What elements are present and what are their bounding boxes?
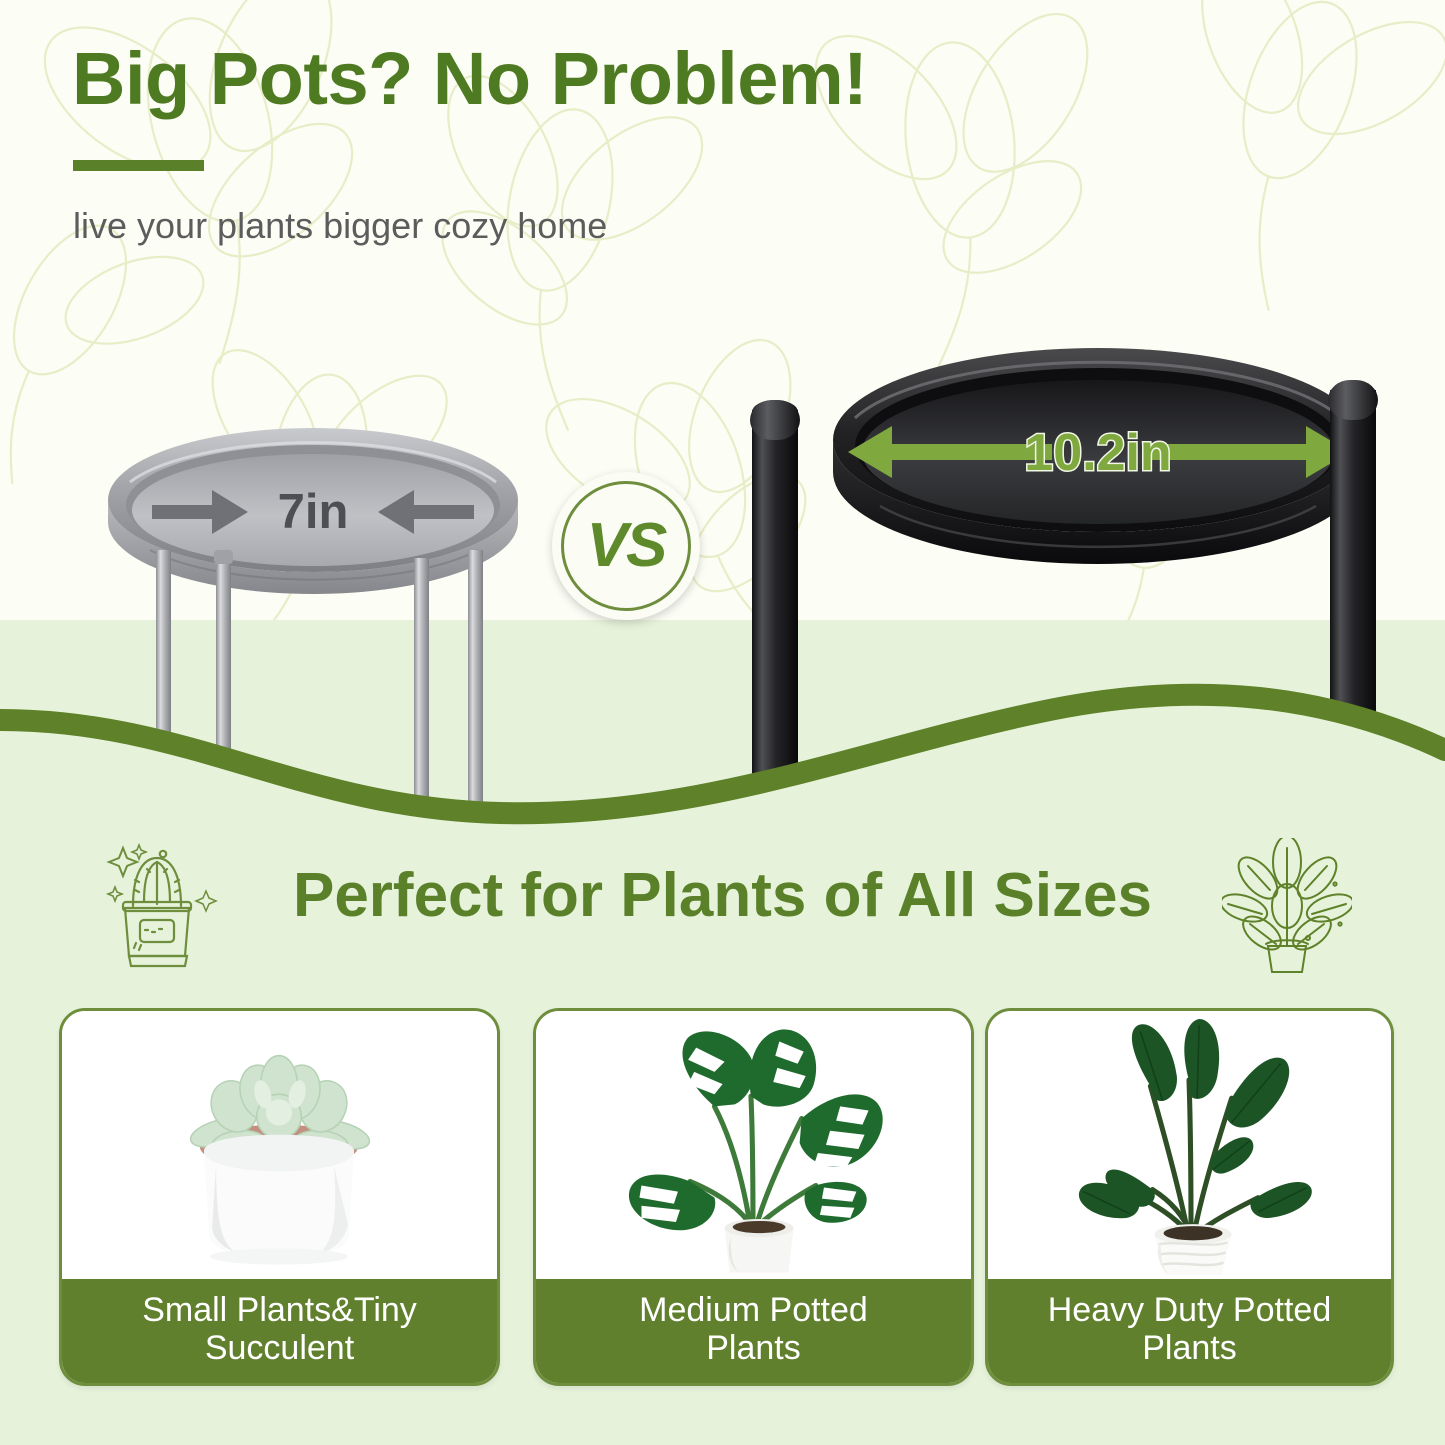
card-caption: Heavy Duty Potted Plants xyxy=(988,1279,1391,1383)
vs-badge: VS xyxy=(552,472,700,620)
bird-of-paradise-in-white-pot-image xyxy=(988,1011,1391,1279)
title-accent-bar xyxy=(73,160,204,171)
plant-size-card-list: Small Plants&Tiny Succulent xyxy=(0,1008,1445,1388)
card-caption: Medium Potted Plants xyxy=(536,1279,971,1383)
vs-badge-ring: VS xyxy=(561,481,691,611)
card-heavy-duty-plants[interactable]: Heavy Duty Potted Plants xyxy=(985,1008,1394,1386)
page-title: Big Pots? No Problem! xyxy=(72,36,867,121)
infographic-page: 7in 10.2in xyxy=(0,0,1445,1445)
succulent-in-white-pot-image xyxy=(62,1011,497,1279)
card-caption: Small Plants&Tiny Succulent xyxy=(62,1279,497,1383)
vs-label: VS xyxy=(587,515,666,577)
page-subtitle: live your plants bigger cozy home xyxy=(73,205,607,247)
card-medium-plants[interactable]: Medium Potted Plants xyxy=(533,1008,974,1386)
monstera-in-white-pot-image xyxy=(536,1011,971,1279)
potted-plant-icon xyxy=(1222,838,1352,978)
card-small-plants[interactable]: Small Plants&Tiny Succulent xyxy=(59,1008,500,1386)
